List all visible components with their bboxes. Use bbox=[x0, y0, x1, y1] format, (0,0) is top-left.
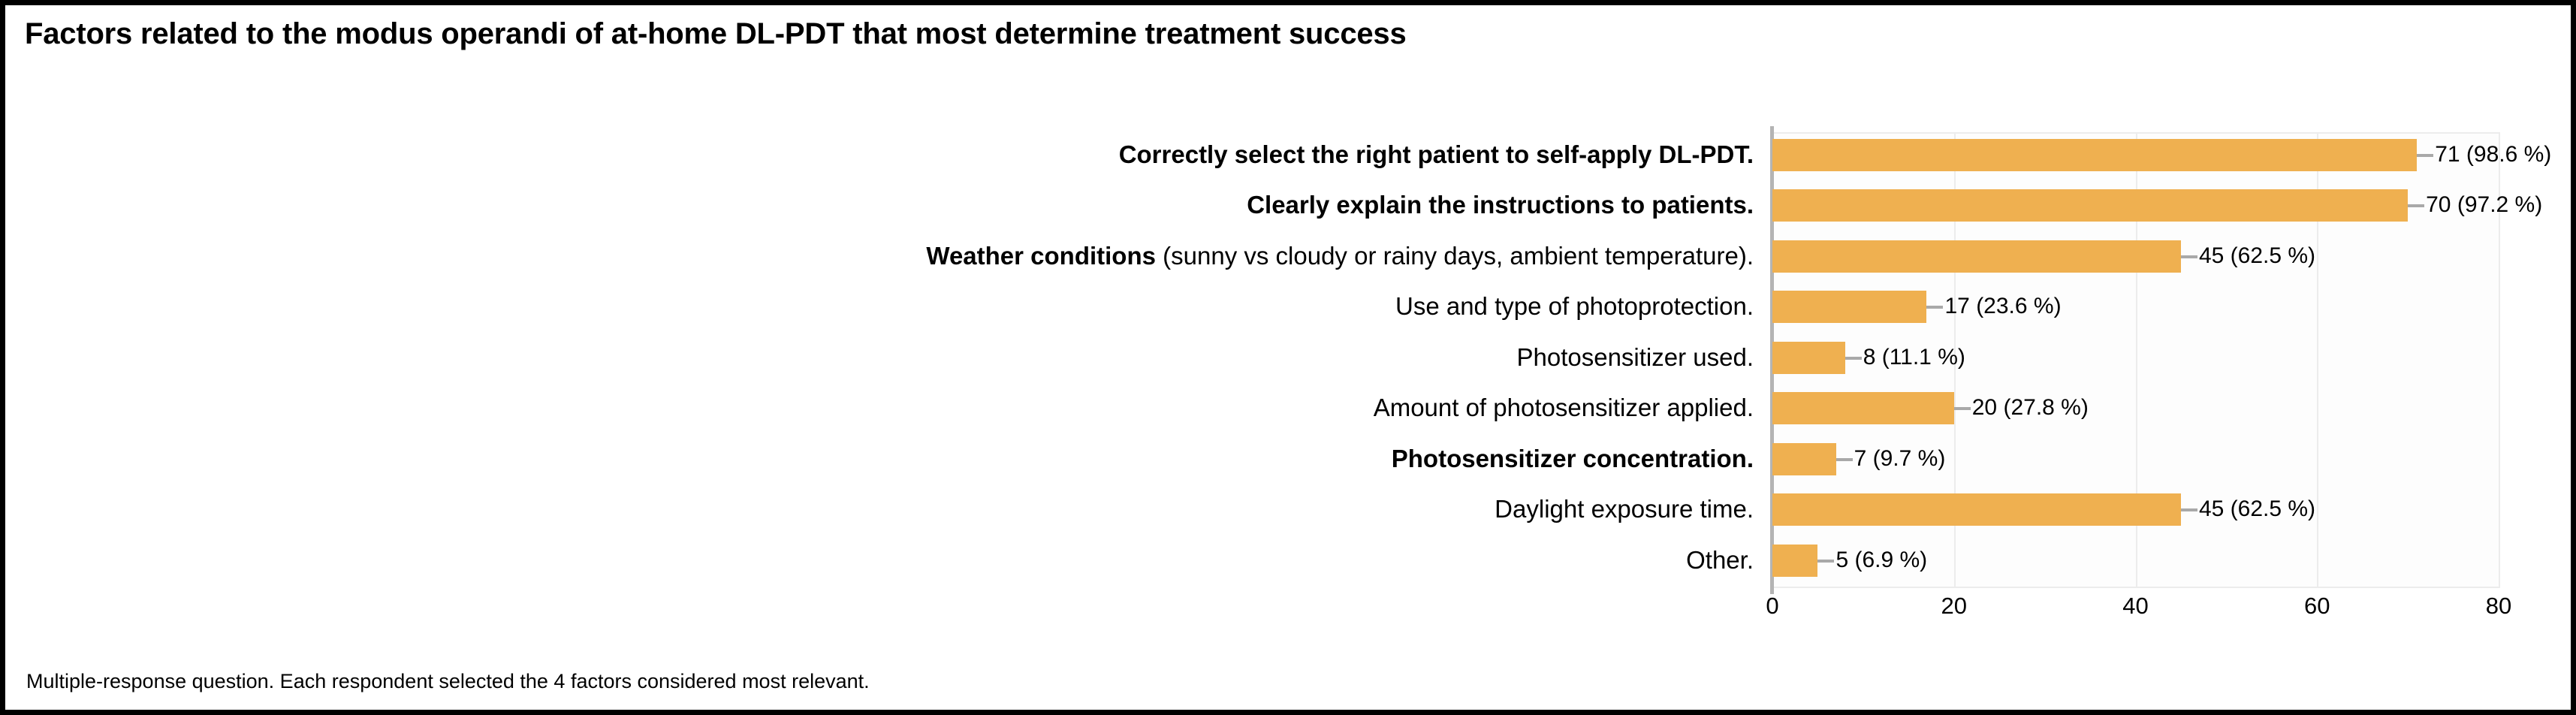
bar-data-label: 20 (27.8 %) bbox=[1972, 391, 2089, 424]
data-label-leader-line bbox=[2181, 508, 2197, 511]
x-tick-label-60: 60 bbox=[2304, 593, 2330, 620]
figure-panel: Factors related to the modus operandi of… bbox=[0, 0, 2576, 715]
data-label-leader-line bbox=[2181, 255, 2197, 258]
data-label-leader-line bbox=[1954, 407, 1971, 410]
bar bbox=[1772, 189, 2408, 222]
category-label: Use and type of photoprotection. bbox=[11, 290, 1761, 323]
chart-plot-area: Correctly select the right patient to se… bbox=[1772, 132, 2499, 588]
category-label: Daylight exposure time. bbox=[11, 493, 1761, 526]
bar bbox=[1772, 342, 1845, 374]
bar-data-label: 8 (11.1 %) bbox=[1863, 341, 1965, 374]
category-label: Photosensitizer concentration. bbox=[11, 442, 1761, 475]
category-label: Weather conditions (sunny vs cloudy or r… bbox=[11, 240, 1761, 273]
bar-data-label: 5 (6.9 %) bbox=[1835, 544, 1927, 577]
x-tick-label-40: 40 bbox=[2122, 593, 2148, 620]
category-label: Other. bbox=[11, 544, 1761, 577]
bar-data-label: 71 (98.6 %) bbox=[2435, 138, 2551, 171]
data-label-leader-line bbox=[1926, 306, 1943, 309]
bar-row: Photosensitizer concentration.7 (9.7 %) bbox=[1772, 436, 2499, 487]
bar-data-label: 7 (9.7 %) bbox=[1854, 442, 1946, 475]
x-tick-label-80: 80 bbox=[2486, 593, 2511, 620]
x-tick-label-20: 20 bbox=[1941, 593, 1967, 620]
data-label-leader-line bbox=[1836, 458, 1853, 461]
bar-row: Use and type of photoprotection.17 (23.6… bbox=[1772, 284, 2499, 334]
category-label: Amount of photosensitizer applied. bbox=[11, 391, 1761, 424]
bar bbox=[1772, 443, 1836, 475]
bar-row: Clearly explain the instructions to pati… bbox=[1772, 183, 2499, 233]
x-axis-ticks: 020406080 bbox=[1772, 593, 2499, 630]
category-label: Photosensitizer used. bbox=[11, 341, 1761, 374]
category-label-plain-part: (sunny vs cloudy or rainy days, ambient … bbox=[1156, 242, 1754, 270]
category-label: Correctly select the right patient to se… bbox=[11, 138, 1761, 171]
bar bbox=[1772, 493, 2181, 526]
bar-row: Daylight exposure time.45 (62.5 %) bbox=[1772, 487, 2499, 537]
bar-row: Amount of photosensitizer applied.20 (27… bbox=[1772, 385, 2499, 436]
bar-row: Photosensitizer used.8 (11.1 %) bbox=[1772, 335, 2499, 385]
bar-data-label: 70 (97.2 %) bbox=[2426, 189, 2542, 222]
x-tick-label-0: 0 bbox=[1766, 593, 1778, 620]
figure-title: Factors related to the modus operandi of… bbox=[25, 17, 1407, 51]
bar bbox=[1772, 545, 1817, 577]
bar-row: Other.5 (6.9 %) bbox=[1772, 538, 2499, 588]
data-label-leader-line bbox=[1817, 560, 1834, 563]
bar-row: Weather conditions (sunny vs cloudy or r… bbox=[1772, 234, 2499, 284]
bar bbox=[1772, 291, 1926, 323]
data-label-leader-line bbox=[1845, 357, 1862, 360]
bar-data-label: 45 (62.5 %) bbox=[2199, 493, 2315, 526]
bar bbox=[1772, 139, 2417, 171]
bar bbox=[1772, 392, 1954, 424]
figure-footnote: Multiple-response question. Each respond… bbox=[26, 670, 870, 693]
bar-row: Correctly select the right patient to se… bbox=[1772, 132, 2499, 183]
data-label-leader-line bbox=[2417, 154, 2433, 157]
data-label-leader-line bbox=[2408, 204, 2424, 207]
bar-data-label: 45 (62.5 %) bbox=[2199, 240, 2315, 273]
bar bbox=[1772, 240, 2181, 273]
category-label: Clearly explain the instructions to pati… bbox=[11, 189, 1761, 222]
bar-data-label: 17 (23.6 %) bbox=[1944, 290, 2061, 323]
category-label-bold-part: Weather conditions bbox=[926, 242, 1156, 270]
